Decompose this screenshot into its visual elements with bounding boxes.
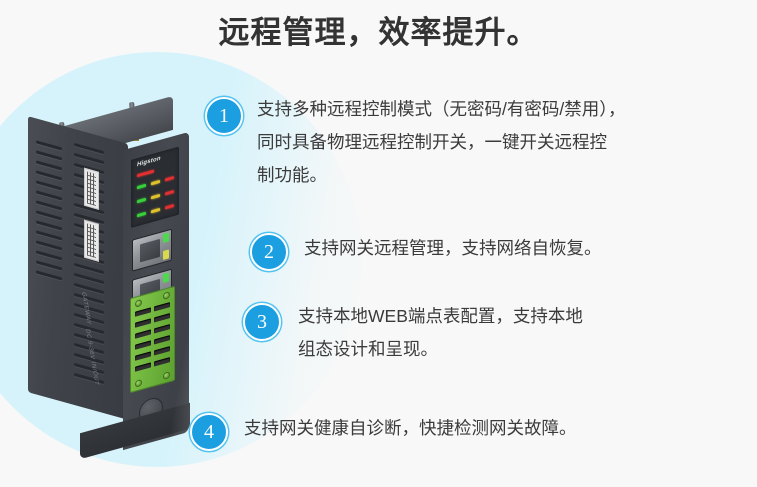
device-side-face: GATEWAY DC 9-36V IN/OUT xyxy=(28,116,128,420)
product-feature-banner: 远程管理，效率提升。 xyxy=(0,0,757,487)
status-led-yellow-1 xyxy=(151,180,160,185)
status-led-green-3 xyxy=(137,212,146,217)
feature-text-2: 支持网关远程管理，支持网络自恢复。 xyxy=(304,232,602,265)
ethernet-port-1-link-led xyxy=(163,232,169,243)
screw-terminal-block xyxy=(130,286,175,393)
status-led-red-2 xyxy=(165,190,174,195)
feature-text-1: 支持多种远程控制模式（无密码/有密码/禁用）， 同时具备物理远程控制开关，一键开… xyxy=(257,93,625,192)
feature-item-3: 3 支持本地WEB端点表配置，支持本地 组态设计和呈现。 xyxy=(243,300,583,366)
status-led-green-2 xyxy=(137,198,146,203)
status-led-green-1 xyxy=(137,184,146,189)
device-front-panel: Higston xyxy=(123,132,189,450)
qr-code-sticker-bottom xyxy=(84,220,99,262)
feature-number-badge-2: 2 xyxy=(250,233,288,271)
power-led xyxy=(137,170,154,178)
status-led-yellow-3 xyxy=(151,208,160,213)
status-led-red-1 xyxy=(165,176,174,181)
led-indicator-panel: Higston xyxy=(131,147,179,228)
page-title: 远程管理，效率提升。 xyxy=(0,12,757,54)
brand-logo: Higston xyxy=(137,156,161,169)
feature-number-badge-3: 3 xyxy=(243,303,281,341)
feature-number-badge-1: 1 xyxy=(205,97,243,135)
status-led-red-3 xyxy=(165,204,174,209)
feature-item-1: 1 支持多种远程控制模式（无密码/有密码/禁用）， 同时具备物理远程控制开关，一… xyxy=(205,93,625,192)
ventilation-grille xyxy=(28,116,128,420)
feature-item-2: 2 支持网关远程管理，支持网络自恢复。 xyxy=(250,232,602,271)
gateway-device-image: GATEWAY DC 9-36V IN/OUT Higston xyxy=(22,100,232,440)
ethernet-port-1-activity-led xyxy=(163,249,169,260)
qr-code-sticker-top xyxy=(84,168,99,210)
ethernet-port-2-link-led xyxy=(163,272,169,283)
feature-text-4: 支持网关健康自诊断，快捷检测网关故障。 xyxy=(244,412,577,445)
feature-text-3: 支持本地WEB端点表配置，支持本地 组态设计和呈现。 xyxy=(298,300,583,366)
feature-number-badge-4: 4 xyxy=(190,413,228,451)
status-led-yellow-2 xyxy=(151,194,160,199)
feature-item-4: 4 支持网关健康自诊断，快捷检测网关故障。 xyxy=(190,412,577,451)
ethernet-port-1 xyxy=(132,229,172,272)
